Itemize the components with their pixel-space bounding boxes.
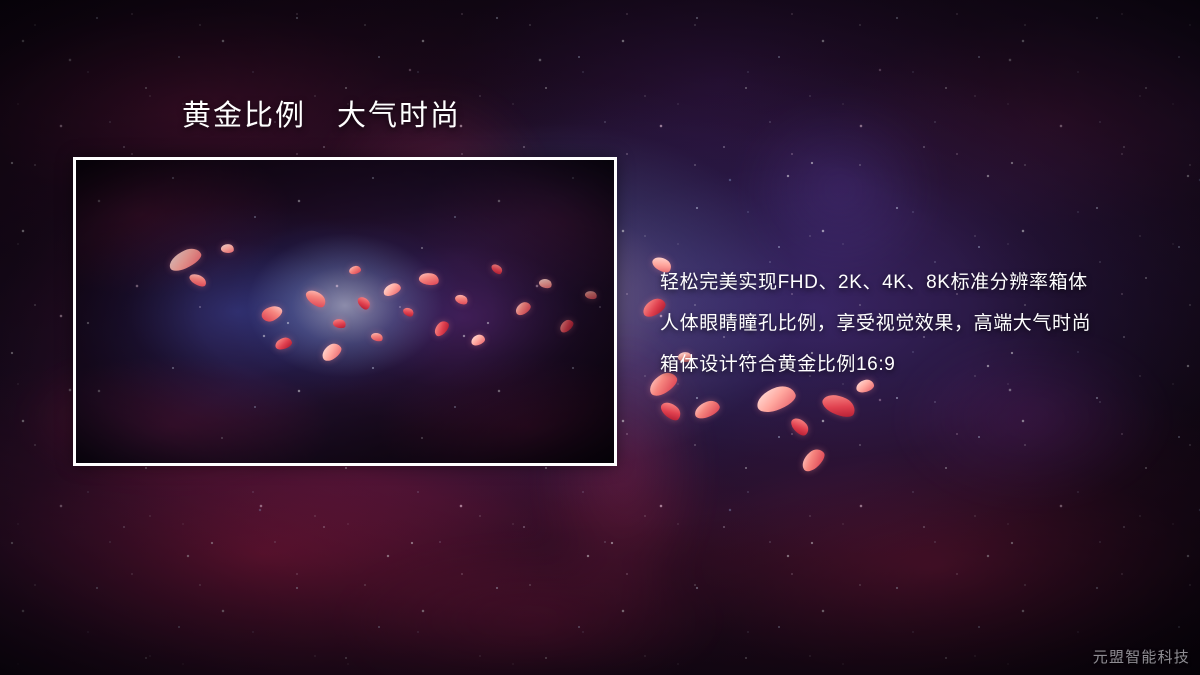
watermark: 元盟智能科技	[1093, 646, 1190, 667]
body-text-block: 轻松完美实现FHD、2K、4K、8K标准分辨率箱体 人体眼睛瞳孔比例，享受视觉效…	[660, 262, 1160, 385]
framed-image	[73, 157, 617, 466]
body-line-2: 人体眼睛瞳孔比例，享受视觉效果，高端大气时尚	[660, 303, 1160, 344]
body-line-3: 箱体设计符合黄金比例16:9	[660, 344, 1160, 385]
page-title: 黄金比例 大气时尚	[182, 101, 461, 133]
presentation-slide: 黄金比例 大气时尚 轻松完美实现FHD、2K、4K、8K标准分辨率箱体 人体眼睛…	[0, 0, 1200, 675]
framed-image-vignette	[76, 160, 614, 463]
body-line-1: 轻松完美实现FHD、2K、4K、8K标准分辨率箱体	[660, 262, 1160, 303]
